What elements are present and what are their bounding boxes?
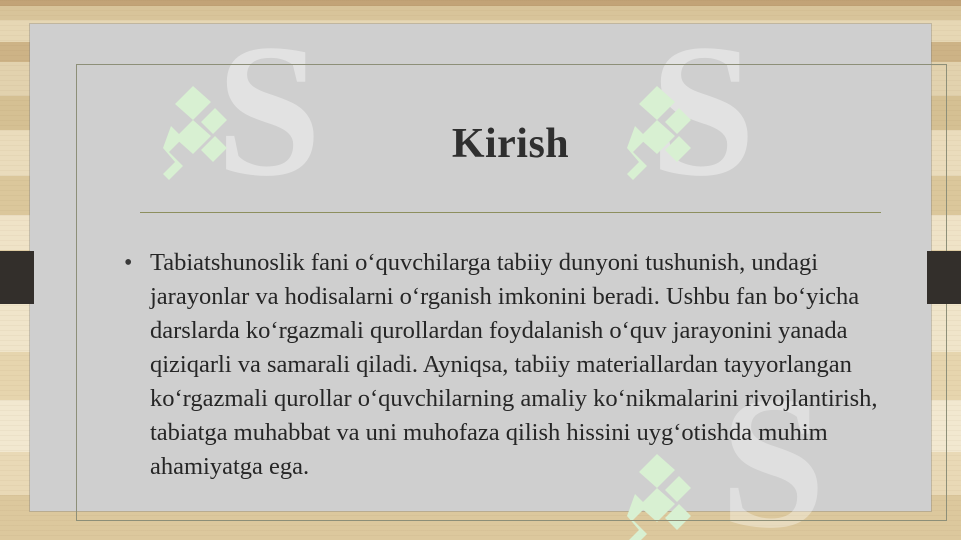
watermark-letter-s-top-left: S (216, 2, 318, 220)
list-item: • Tabiatshunoslik fani o‘quvchilarga tab… (118, 246, 908, 484)
left-band-tab (0, 251, 34, 304)
slide-title: Kirish (140, 120, 881, 168)
bullet-marker-icon: • (118, 246, 150, 280)
slide: S S S Kirish • Tabiatshunoslik fani o‘qu… (0, 0, 961, 540)
slide-body: • Tabiatshunoslik fani o‘quvchilarga tab… (118, 246, 908, 484)
watermark-letter-s-top-right: S (650, 2, 752, 220)
right-band-tab (927, 251, 961, 304)
title-divider (140, 212, 881, 213)
bullet-text: Tabiatshunoslik fani o‘quvchilarga tabii… (150, 246, 908, 484)
slide-panel: S S S Kirish • Tabiatshunoslik fani o‘qu… (30, 24, 931, 511)
